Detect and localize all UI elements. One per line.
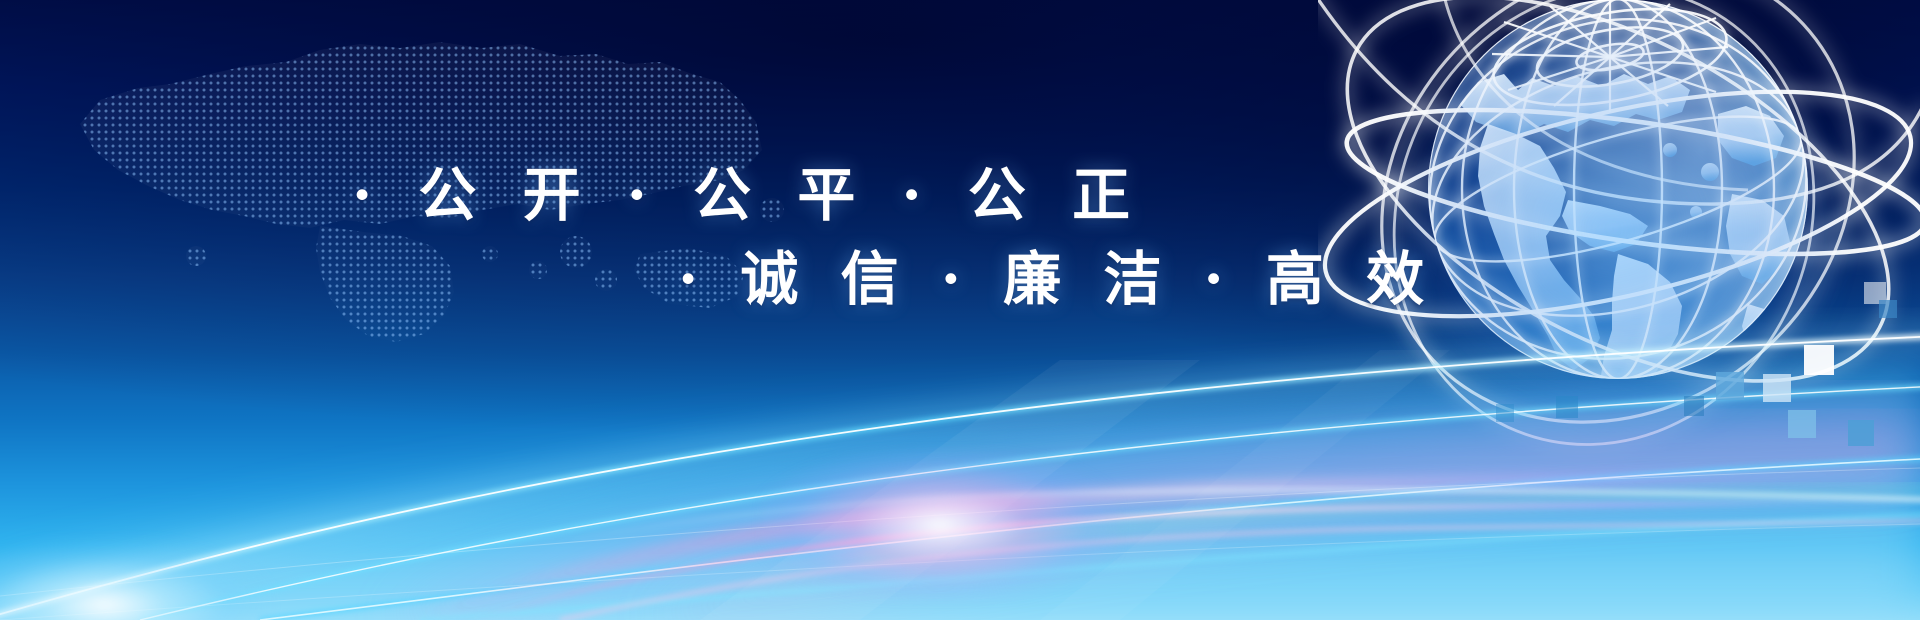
decor-square <box>1716 372 1744 400</box>
decor-square <box>1556 396 1578 418</box>
light-streaks <box>0 290 1920 620</box>
banner-root: · 公 开 · 公 平 · 公 正 · 诚 信 · 廉 洁 · 高 效 <box>0 0 1920 620</box>
decor-square <box>1496 404 1514 422</box>
light-hotspot-center <box>760 450 1120 600</box>
decor-square <box>1848 420 1874 446</box>
decor-square <box>1879 300 1897 318</box>
decor-square <box>1763 374 1791 402</box>
decor-square <box>1788 410 1816 438</box>
light-hotspot-left <box>0 540 270 620</box>
decor-square <box>1804 345 1834 375</box>
decor-square <box>1684 396 1704 416</box>
